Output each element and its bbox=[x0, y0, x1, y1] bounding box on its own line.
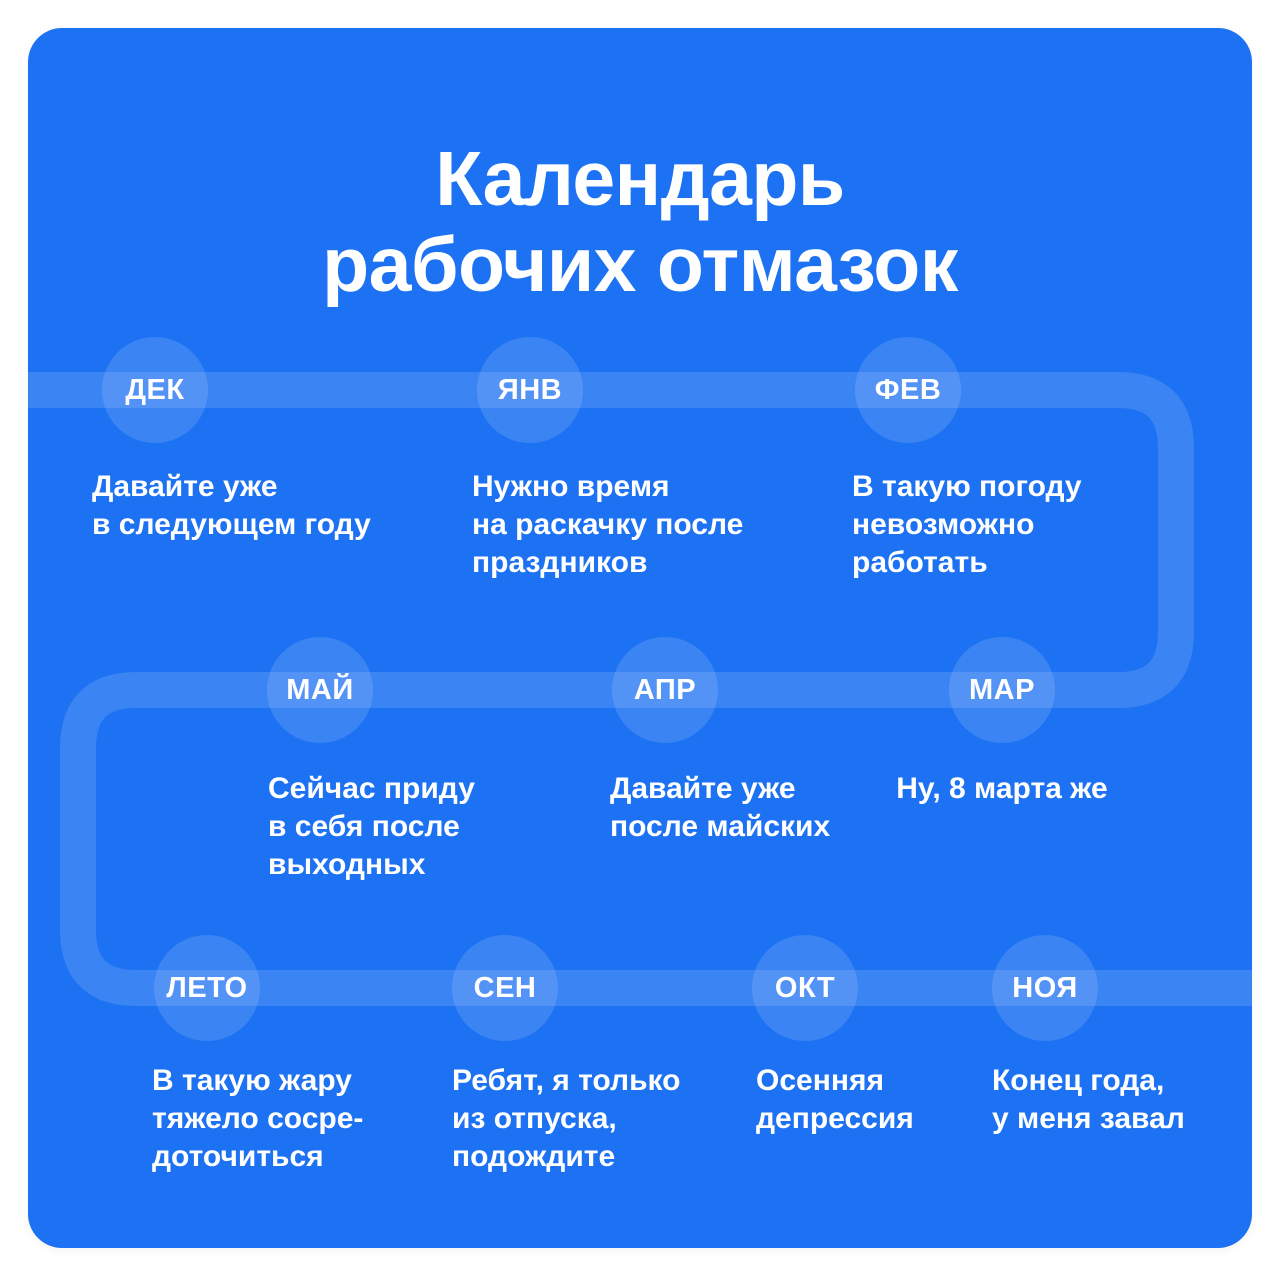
month-node-мар[interactable]: МАР bbox=[949, 637, 1055, 743]
excuse-text-апр: Давайте уже после майских bbox=[610, 770, 830, 846]
screenshot-root: Календарь рабочих отмазок ДЕКДавайте уже… bbox=[0, 0, 1280, 1280]
excuse-text-лето: В такую жару тяжело сосре- доточиться bbox=[152, 1062, 363, 1176]
month-node-лето[interactable]: ЛЕТО bbox=[154, 935, 260, 1041]
month-node-label: ЯНВ bbox=[498, 376, 562, 405]
month-node-май[interactable]: МАЙ bbox=[267, 637, 373, 743]
month-node-label: ДЕК bbox=[125, 376, 184, 405]
month-node-label: ОКТ bbox=[775, 974, 835, 1003]
excuse-text-мар: Ну, 8 марта же bbox=[896, 770, 1107, 808]
month-node-label: ФЕВ bbox=[875, 376, 942, 405]
excuse-text-янв: Нужно время на раскачку после праздников bbox=[472, 468, 743, 582]
excuse-text-сен: Ребят, я только из отпуска, подождите bbox=[452, 1062, 680, 1176]
month-node-label: СЕН bbox=[474, 974, 537, 1003]
month-node-фев[interactable]: ФЕВ bbox=[855, 337, 961, 443]
excuse-text-дек: Давайте уже в следующем году bbox=[92, 468, 371, 544]
month-node-label: МАЙ bbox=[286, 676, 353, 705]
month-node-окт[interactable]: ОКТ bbox=[752, 935, 858, 1041]
month-node-янв[interactable]: ЯНВ bbox=[477, 337, 583, 443]
month-node-label: АПР bbox=[634, 676, 696, 705]
month-node-label: НОЯ bbox=[1012, 974, 1077, 1003]
month-node-label: ЛЕТО bbox=[166, 974, 247, 1003]
month-node-сен[interactable]: СЕН bbox=[452, 935, 558, 1041]
month-node-label: МАР bbox=[969, 676, 1035, 705]
excuse-text-ноя: Конец года, у меня завал bbox=[992, 1062, 1185, 1138]
infographic-card: Календарь рабочих отмазок ДЕКДавайте уже… bbox=[28, 28, 1252, 1248]
month-node-ноя[interactable]: НОЯ bbox=[992, 935, 1098, 1041]
month-node-апр[interactable]: АПР bbox=[612, 637, 718, 743]
excuse-text-фев: В такую погоду невозможно работать bbox=[852, 468, 1082, 582]
month-node-дек[interactable]: ДЕК bbox=[102, 337, 208, 443]
excuse-text-май: Сейчас приду в себя после выходных bbox=[268, 770, 475, 884]
page-title: Календарь рабочих отмазок bbox=[28, 136, 1252, 308]
excuse-text-окт: Осенняя депрессия bbox=[756, 1062, 914, 1138]
